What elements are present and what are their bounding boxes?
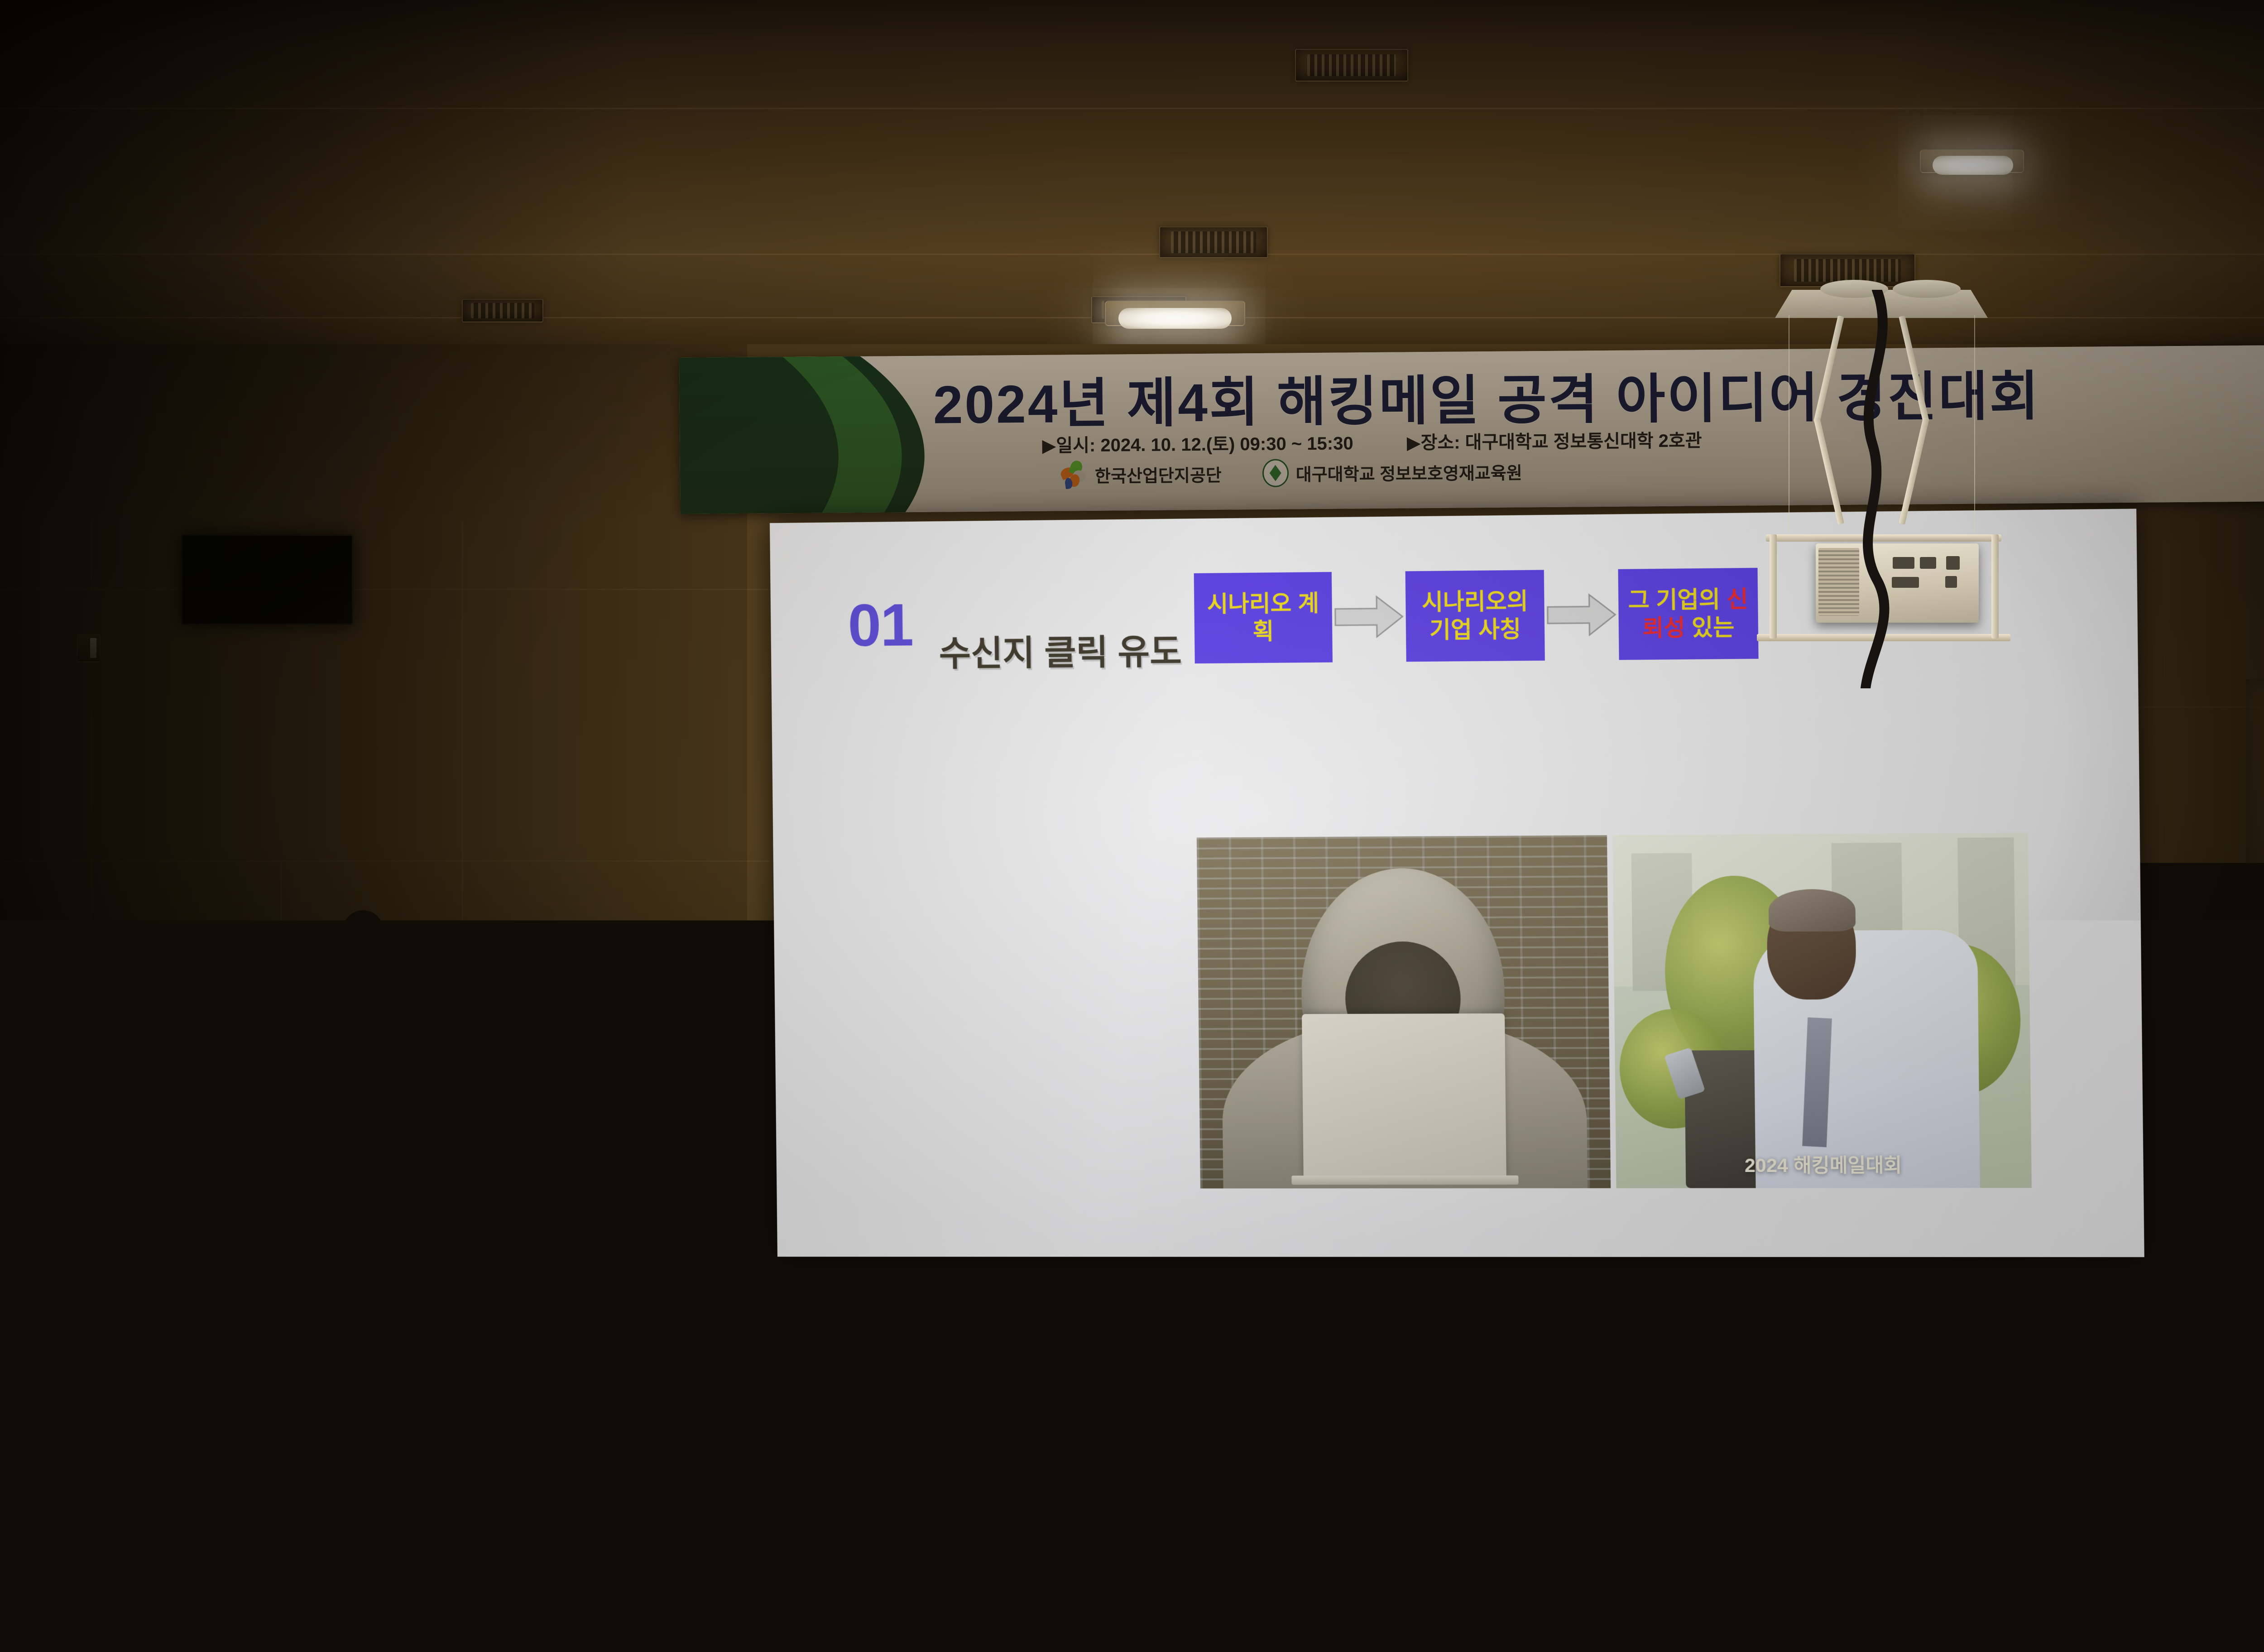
- audience-head: [1657, 1177, 1730, 1254]
- banner-date: ▶일시: 2024. 10. 12.(토) 09:30 ~ 15:30: [1042, 433, 1353, 456]
- photo-businessman-hair: [1769, 889, 1856, 932]
- slide-number: 01: [848, 595, 913, 655]
- audience-head: [77, 1404, 190, 1522]
- handheld-microphone[interactable]: [612, 1035, 626, 1074]
- banner-sponsor-logos: 한국산업단지공단 대구대학교 정보보호영재교육원: [1060, 457, 1522, 489]
- lectern-top: [23, 1013, 249, 1029]
- audience-head: [797, 1173, 865, 1245]
- projector-port: [1893, 557, 1914, 569]
- event-banner: 2024년 제4회 해킹메일 공격 아이디어 경진대회 ▶일시: 2024. 1…: [679, 344, 2264, 514]
- sponsor-kicox: 한국산업단지공단: [1060, 460, 1222, 489]
- audience-head: [1372, 1177, 1440, 1250]
- ceiling-vent: [1159, 226, 1268, 258]
- projector-mount: [1761, 290, 2015, 688]
- audience-head: [643, 1200, 711, 1273]
- placard-judges-label: 심사위원석: [2226, 1258, 2264, 1296]
- projector-port: [1945, 576, 1957, 588]
- audience-head: [1933, 1168, 2015, 1254]
- audience-head: [534, 1277, 625, 1372]
- projector-port: [1920, 557, 1936, 569]
- kicox-pinwheel-logo-icon: [1060, 461, 1088, 489]
- projector-vent: [1818, 548, 1859, 616]
- flow-step-2-label: 시나리오의기업 사칭: [1422, 587, 1529, 644]
- sponsor-kicox-label: 한국산업단지공단: [1095, 461, 1222, 487]
- seat: [1413, 1503, 1639, 1652]
- flow-step-1-label: 시나리오 계획: [1199, 589, 1328, 646]
- auditorium-photo: 2024년 제4회 해킹메일 공격 아이디어 경진대회 ▶일시: 2024. 1…: [0, 0, 2264, 1652]
- flow-step-2-line1: 시나리오의: [1422, 588, 1528, 615]
- mount-frame-top: [1766, 534, 2001, 542]
- slide-flow-diagram: 시나리오 계획 시나리오의기업 사칭 그 기업의 신뢰성 있는: [1194, 568, 1759, 663]
- audience-head: [1549, 1273, 1653, 1381]
- seat: [1884, 1513, 2110, 1652]
- seat: [706, 1503, 933, 1652]
- mount-bowl: [1820, 280, 1888, 298]
- flow-step-3-line1: 그 기업의: [1628, 586, 1727, 613]
- ceiling-light: [1118, 308, 1232, 329]
- mount-frame-right: [1991, 534, 1999, 639]
- projector-port: [1946, 556, 1960, 570]
- banner-subtitle-spacer: [1358, 449, 1402, 449]
- audience-head: [1295, 1268, 1404, 1381]
- audience-head: [1784, 1150, 1875, 1245]
- ceiling-vent: [1295, 49, 1408, 82]
- placard-clip: [2245, 1240, 2264, 1248]
- mount-safety-wire: [1789, 315, 1789, 533]
- flow-step-1: 시나리오 계획: [1194, 572, 1333, 663]
- sponsor-daegu-university: 대구대학교 정보보호영재교육원: [1262, 457, 1522, 487]
- seat: [471, 1508, 697, 1652]
- seat: [235, 1513, 462, 1652]
- placard-secondary: 등기초: [2182, 1325, 2264, 1397]
- flow-step-2: 시나리오의기업 사칭: [1405, 570, 1545, 662]
- seat: [0, 1517, 226, 1652]
- audience-head: [281, 1286, 376, 1386]
- projector-port: [1892, 577, 1919, 588]
- daegu-university-diamond-logo-icon: [1262, 459, 1288, 487]
- flow-step-2-line2: 기업 사칭: [1429, 616, 1521, 643]
- banner-subtitle: ▶일시: 2024. 10. 12.(토) 09:30 ~ 15:30 ▶장소:…: [1042, 426, 1702, 457]
- sponsor-daegu-label: 대구대학교 정보보호영재교육원: [1296, 459, 1522, 485]
- ceiling-shadow-left: [0, 0, 634, 362]
- seat: [942, 1503, 1168, 1652]
- audience-head: [1775, 1277, 1875, 1381]
- flow-arrow-1-icon: [1332, 595, 1406, 639]
- flow-arrow-2-icon: [1544, 593, 1619, 638]
- mount-safety-wire: [1974, 315, 1975, 533]
- mount-frame-bottom: [1757, 634, 2010, 641]
- audience-head: [752, 1273, 851, 1377]
- ceiling-projector: [1816, 543, 1979, 623]
- placard-secondary-label: 등기초: [2229, 1341, 2264, 1380]
- flow-step-3-label: 그 기업의 신뢰성 있는: [1623, 586, 1754, 643]
- audience-head: [380, 1395, 498, 1517]
- audience-seating: 심사위원석 등기초: [0, 1123, 2264, 1652]
- placard-judges: 심사위원석: [2200, 1243, 2264, 1311]
- daegu-university-emblem-icon: [190, 1073, 232, 1120]
- flow-step-3: 그 기업의 신뢰성 있는: [1618, 568, 1758, 660]
- seat: [1970, 1368, 2151, 1531]
- flow-step-3-line2: 있는: [1685, 615, 1734, 641]
- seat: [1648, 1508, 1875, 1652]
- audience-head: [1245, 1164, 1331, 1254]
- presenter-face: [550, 957, 578, 1001]
- mount-frame-left: [1770, 534, 1777, 639]
- audience-head: [1141, 1282, 1227, 1372]
- scissor-lift-arms: [1816, 315, 1952, 528]
- audience-head: [964, 1268, 1069, 1377]
- audience-head: [2074, 1191, 2146, 1268]
- audience-head: [1956, 1286, 2047, 1381]
- audience-head: [1508, 1141, 1603, 1241]
- audience-head: [1100, 1150, 1191, 1245]
- audience-head: [951, 1155, 1037, 1245]
- seat: [2119, 1517, 2264, 1652]
- mount-bowl: [1893, 280, 1961, 298]
- presenter-face: [402, 955, 426, 994]
- banner-place: ▶장소: 대구대학교 정보통신대학 2호관: [1407, 431, 1702, 453]
- seat: [1775, 1368, 1956, 1531]
- slide-heading: 수신지 클릭 유도: [939, 624, 1182, 676]
- seat: [1177, 1503, 1404, 1652]
